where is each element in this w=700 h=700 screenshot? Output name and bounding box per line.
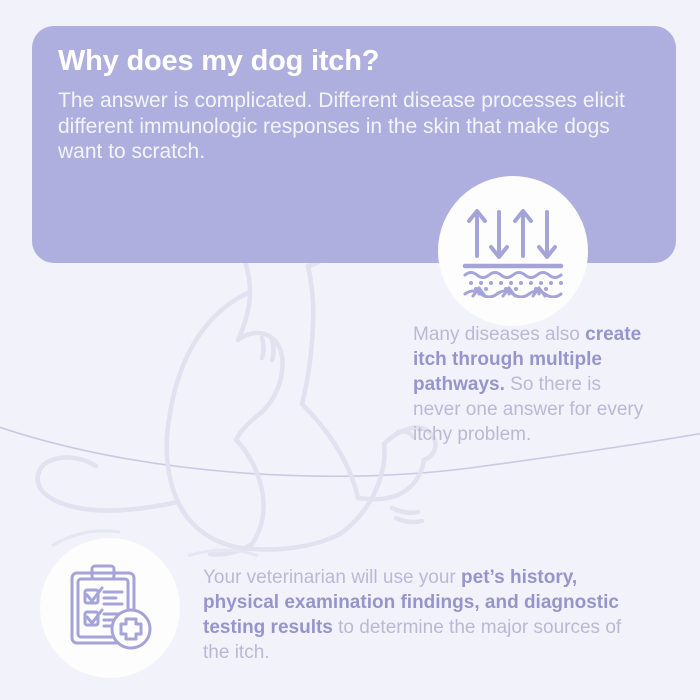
pathways-paragraph: Many diseases also create itch through m… (413, 322, 645, 447)
skin-layers-arrows-icon (461, 204, 565, 298)
diagnosis-paragraph: Your veterinarian will use your pet’s hi… (203, 565, 643, 665)
arrow-up-1 (469, 211, 485, 256)
arrow-down-1 (491, 212, 507, 257)
clipboard-checklist-medical-icon (68, 564, 152, 652)
header-subtitle: The answer is complicated. Different dis… (58, 88, 650, 165)
page-title: Why does my dog itch? (58, 40, 650, 82)
body-text-run: Many diseases also (413, 324, 585, 345)
clipboard-icon-circle (40, 538, 180, 678)
infographic-canvas: Why does my dog itch? The answer is comp… (0, 0, 700, 700)
arrow-down-2 (539, 212, 555, 257)
skin-wave-1 (465, 273, 561, 278)
skin-dots-row (469, 281, 563, 291)
body-text-run: Your veterinarian will use your (203, 567, 461, 588)
skin-icon-circle (438, 176, 588, 326)
arrow-up-2 (515, 211, 531, 256)
medical-badge-circle (112, 610, 150, 648)
